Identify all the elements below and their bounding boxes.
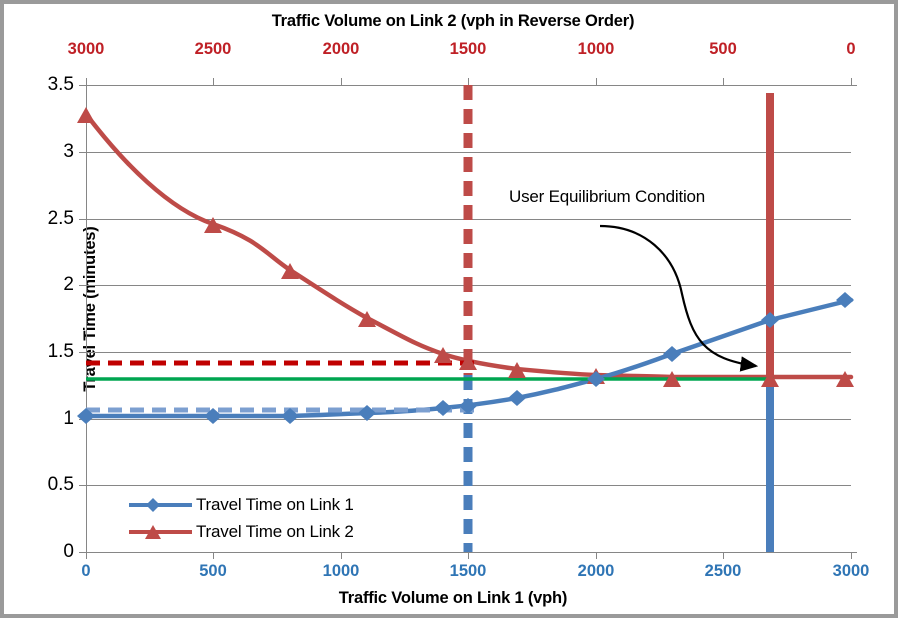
diamond-marker-icon bbox=[144, 496, 162, 514]
chart-legend: Travel Time on Link 1 Travel Time on Lin… bbox=[129, 491, 354, 545]
triangle-marker-icon bbox=[144, 523, 162, 541]
chart-canvas: Traffic Volume on Link 2 (vph in Reverse… bbox=[0, 0, 898, 618]
annotation-arrow-icon bbox=[600, 226, 756, 366]
legend-key-link1 bbox=[129, 496, 192, 514]
legend-item-link2[interactable]: Travel Time on Link 2 bbox=[129, 518, 354, 545]
legend-item-link1[interactable]: Travel Time on Link 1 bbox=[129, 491, 354, 518]
legend-key-link2 bbox=[129, 523, 192, 541]
series-markers-link2 bbox=[77, 107, 854, 387]
annotation-user-equilibrium: User Equilibrium Condition bbox=[509, 187, 705, 207]
legend-label-link1: Travel Time on Link 1 bbox=[196, 495, 354, 515]
legend-label-link2: Travel Time on Link 2 bbox=[196, 522, 354, 542]
